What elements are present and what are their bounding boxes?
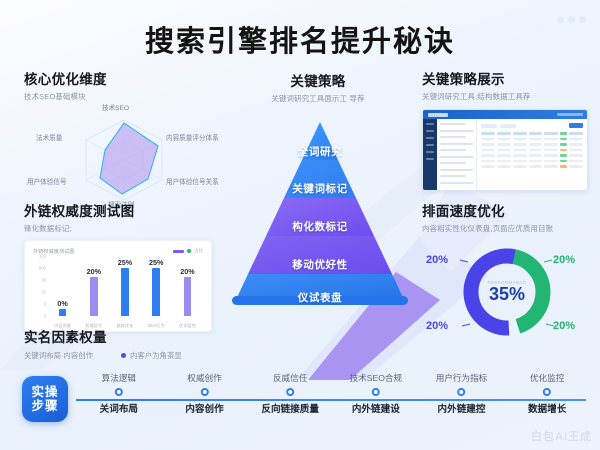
bar-chart-legend: 占比 <box>173 248 203 254</box>
dashboard-subheading: 关键词研究工具,结构数据工具荐 <box>422 91 588 102</box>
timeline-badge[interactable]: 实操 步骤 <box>22 376 68 422</box>
dashboard-toolbar[interactable] <box>481 123 583 128</box>
timeline-step-top-label-2: 反威信任 <box>261 372 319 384</box>
panel-core-dimensions: 核心优化维度 技术SEO基础模块 技术SEO 内容质量评分体系 <box>24 68 224 206</box>
process-timeline: 实操 步骤 算法逻辑关词布局权威创作内容创作反威信任反向链接质量技术SEO合规内… <box>22 372 590 434</box>
timeline-step-bottom-label-1: 内容创作 <box>185 401 223 415</box>
infographic-canvas: 搜索引擎排名提升秘诀 核心优化维度 技术SEO基础模块 <box>0 0 600 450</box>
panel-factor-weights: 实名因素权量 关键词布局·内容创作 内客户为角茶显 <box>24 326 239 361</box>
pyramid-chart: 全词研究 关键词标记 构化数标记 移动优好性 仪试表盘 <box>228 118 412 308</box>
timeline-steps: 算法逻辑关词布局权威创作内容创作反威信任反向链接质量技术SEO合规内外链建设用户… <box>76 372 590 434</box>
page-title: 搜索引擎排名提升秘诀 <box>0 18 600 60</box>
table-row[interactable] <box>481 160 583 163</box>
y-tick-3: 20 <box>41 290 46 295</box>
table-row[interactable] <box>481 165 583 168</box>
radar-heading: 核心优化维度 <box>24 68 224 88</box>
timeline-step-dot-0[interactable] <box>115 388 123 396</box>
timeline-step-bottom-label-4: 内外链建控 <box>436 401 488 415</box>
timeline-step-4[interactable]: 用户行为指标内外链建控 <box>436 372 488 415</box>
panel-speed-optimization: 排面速度优化 内容相实性化仪表盘,页面应优质用目账 PERFORMANCE 35… <box>422 200 592 346</box>
bar-1[interactable] <box>90 277 98 316</box>
bar-value-label-1: 20% <box>87 267 101 276</box>
dashboard-tree-panel[interactable] <box>437 119 477 191</box>
key-strategy-subheading: 关键词研究工具面示工 导荐 <box>232 93 404 104</box>
bar-chart-card: 外链权威度测试图 占比 100 800 30 20 2 0 0%内容质量20%权… <box>24 240 212 332</box>
timeline-step-bottom-label-2: 反向链接质量 <box>261 401 319 415</box>
donut-chart: PERFORMANCE 35% 20% 20% 20% 20% <box>422 238 592 346</box>
y-tick-0: 100 <box>39 254 46 259</box>
panel-key-strategy: 关键策略 关键词研究工具面示工 导荐 <box>232 70 404 104</box>
timeline-step-top-label-5: 优化监控 <box>528 372 566 384</box>
weights-subheading: 关键词布局·内容创作 <box>24 350 93 361</box>
dashboard-heading: 关键策略展示 <box>422 68 588 88</box>
watermark: 白包AI王成 <box>531 428 592 444</box>
panel-backlink-authority: 外链权威度测试图 锋化数据标记; 外链权威度测试图 占比 100 800 30 … <box>24 200 214 332</box>
donut-heading: 排面速度优化 <box>422 200 592 220</box>
weights-heading: 实名因素权量 <box>24 326 239 346</box>
bar-0[interactable] <box>59 309 67 316</box>
radar-axis-label-1: 内容质量评分体系 <box>166 132 219 142</box>
donut-label-1: 20% <box>553 320 575 332</box>
donut-label-2: 20% <box>426 320 448 332</box>
pyramid-level-0[interactable]: 全词研究 <box>298 144 342 159</box>
y-tick-4: 2 <box>44 302 46 307</box>
timeline-step-0[interactable]: 算法逻辑关词布局 <box>100 372 138 415</box>
panel-dashboard-showcase: 关键策略展示 关键词研究工具,结构数据工具荐 <box>422 68 588 191</box>
table-row[interactable] <box>481 138 583 141</box>
weights-legend: 内客户为角茶显 <box>121 350 182 361</box>
y-tick-5: 0 <box>44 314 46 319</box>
dashboard-primary-button[interactable] <box>569 123 583 128</box>
timeline-step-2[interactable]: 反威信任反向链接质量 <box>261 372 319 415</box>
timeline-step-dot-4[interactable] <box>457 388 465 396</box>
table-header-row <box>481 132 583 135</box>
dashboard-titlebar-actions <box>557 113 583 116</box>
radar-axis-label-2: 用户体验信号关系 <box>166 176 219 186</box>
bar-chart-plot: 0%内容质量20%权威信号25%链路优化25%SEO行为20%优化监控 <box>47 258 203 316</box>
radar-axis-label-5: 法术质量 <box>36 132 62 142</box>
dashboard-body <box>423 119 587 191</box>
table-row[interactable] <box>481 154 583 157</box>
bar-value-label-3: 25% <box>149 258 163 267</box>
donut-value: 35% <box>477 285 537 304</box>
timeline-step-dot-5[interactable] <box>543 388 551 396</box>
bar-2[interactable] <box>121 268 129 316</box>
dashboard-logo <box>428 113 448 117</box>
table-row[interactable] <box>481 149 583 152</box>
radar-chart: 技术SEO 内容质量评分体系 用户体验信号关系 搜索达则 用户体验信号 法术质量 <box>24 106 224 206</box>
bar-value-label-2: 25% <box>118 258 132 267</box>
donut-subheading: 内容相实性化仪表盘,页面应优质用目账 <box>422 223 592 234</box>
dashboard-sidebar[interactable] <box>423 119 437 191</box>
timeline-step-bottom-label-5: 数据增长 <box>528 401 566 415</box>
timeline-step-3[interactable]: 技术SEO合规内外链建设 <box>350 372 403 415</box>
table-row[interactable] <box>481 143 583 146</box>
pyramid-level-3[interactable]: 移动优好性 <box>292 257 348 272</box>
timeline-badge-line2: 步骤 <box>31 399 58 413</box>
donut-label-3: 20% <box>426 254 448 266</box>
timeline-step-5[interactable]: 优化监控数据增长 <box>528 372 566 415</box>
bar-value-label-0: 0% <box>57 299 67 308</box>
legend-dot-purple <box>121 353 126 358</box>
legend-label: 占比 <box>194 248 203 254</box>
timeline-step-dot-3[interactable] <box>372 388 380 396</box>
radar-subheading: 技术SEO基础模块 <box>24 91 224 102</box>
timeline-step-1[interactable]: 权威创作内容创作 <box>185 372 223 415</box>
timeline-step-dot-2[interactable] <box>286 388 294 396</box>
bar-heading: 外链权威度测试图 <box>24 200 214 220</box>
timeline-step-top-label-4: 用户行为指标 <box>436 372 488 384</box>
timeline-step-top-label-0: 算法逻辑 <box>100 372 138 384</box>
radar-chart-svg <box>24 106 224 206</box>
donut-label-0: 20% <box>553 254 575 266</box>
dashboard-table-panel <box>477 119 587 191</box>
bar-subheading: 锋化数据标记; <box>24 223 214 234</box>
pyramid-level-4[interactable]: 仪试表盘 <box>298 290 342 305</box>
timeline-step-bottom-label-3: 内外链建设 <box>350 401 403 415</box>
bar-4[interactable] <box>184 277 192 316</box>
legend-swatch-purple <box>173 250 184 253</box>
pyramid-level-1[interactable]: 关键词标记 <box>292 181 348 196</box>
key-strategy-heading: 关键策略 <box>232 70 404 90</box>
legend-swatch-green <box>187 249 191 253</box>
y-tick-2: 30 <box>41 278 46 283</box>
donut-center-value: PERFORMANCE 35% <box>477 280 537 304</box>
radar-axis-label-4: 用户体验信号 <box>27 176 67 186</box>
dashboard-screenshot[interactable] <box>422 109 588 191</box>
timeline-step-dot-1[interactable] <box>201 388 209 396</box>
pyramid-level-2[interactable]: 构化数标记 <box>292 219 348 234</box>
dashboard-titlebar <box>423 110 587 119</box>
bar-3[interactable] <box>152 268 160 316</box>
weights-legend-label: 内客户为角茶显 <box>130 350 182 361</box>
bar-value-label-4: 20% <box>180 267 194 276</box>
bar-chart-y-axis: 100 800 30 20 2 0 <box>30 256 46 316</box>
radar-axis-label-0: 技术SEO <box>102 102 129 112</box>
timeline-step-top-label-1: 权威创作 <box>185 372 223 384</box>
y-tick-1: 800 <box>39 266 46 271</box>
timeline-step-top-label-3: 技术SEO合规 <box>350 372 403 384</box>
dashboard-table <box>481 132 583 168</box>
weights-legend-row: 关键词布局·内容创作 内客户为角茶显 <box>24 350 239 361</box>
timeline-badge-line1: 实操 <box>31 385 58 399</box>
timeline-step-bottom-label-0: 关词布局 <box>100 401 138 415</box>
